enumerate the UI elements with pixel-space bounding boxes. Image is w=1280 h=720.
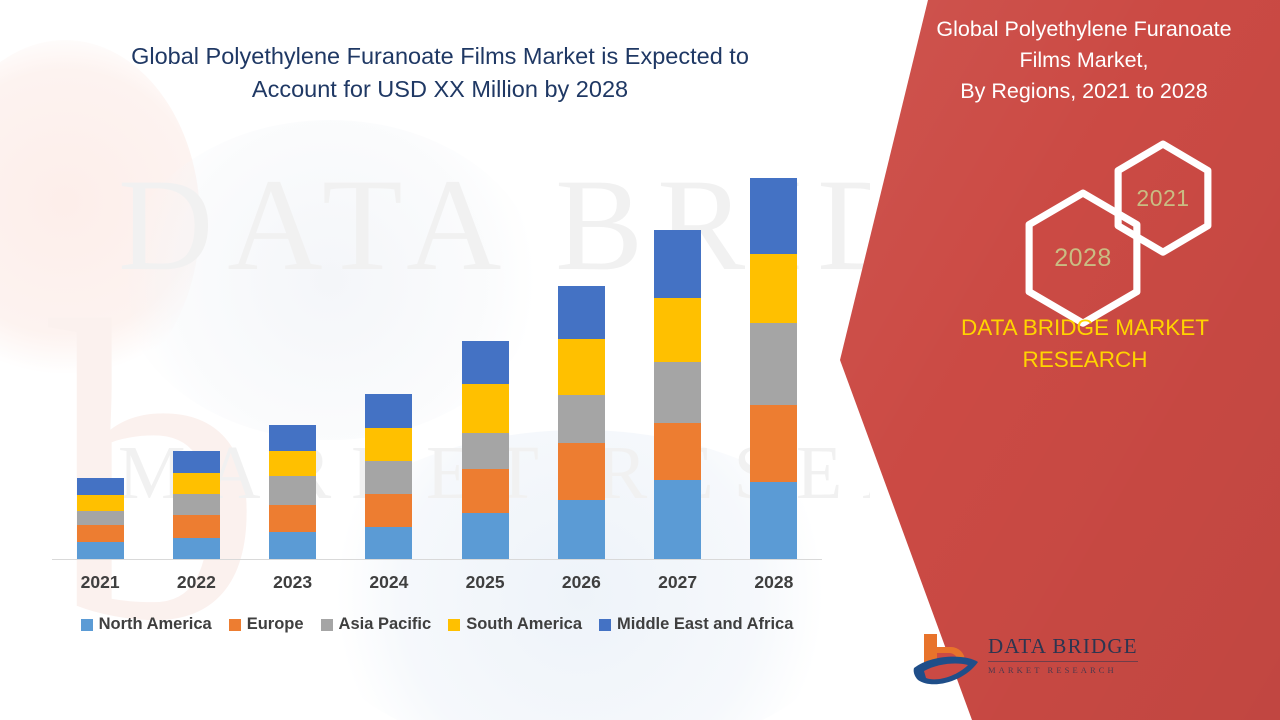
- bar-segment: [558, 443, 605, 499]
- x-tick-2022: 2022: [156, 572, 236, 593]
- brand-name-line-2: RESEARCH: [920, 344, 1250, 376]
- page-title-line-1: Global Polyethylene Furanoate Films Mark…: [60, 40, 820, 73]
- bar-segment: [750, 405, 797, 483]
- logo-sub-text: MARKET RESEARCH: [988, 665, 1138, 675]
- bar-segment: [654, 362, 701, 423]
- x-tick-2024: 2024: [349, 572, 429, 593]
- hexagon-year-badges: 2021 2028: [960, 140, 1220, 305]
- brand-name-line-1: DATA BRIDGE MARKET: [920, 312, 1250, 344]
- legend-label: Middle East and Africa: [617, 615, 793, 634]
- bar-segment: [77, 542, 124, 559]
- bar-segment: [654, 230, 701, 299]
- infographic-slide: b DATA BRIDGE MARKET RESEARCH Global Pol…: [0, 0, 1280, 720]
- chart-legend: North AmericaEuropeAsia PacificSouth Ame…: [52, 615, 822, 634]
- bar-segment: [365, 494, 412, 528]
- bar-segment: [173, 538, 220, 559]
- bar-column-2027: [654, 230, 701, 559]
- panel-heading-line-2: Films Market,: [910, 45, 1258, 76]
- x-tick-2026: 2026: [541, 572, 621, 593]
- bar-segment: [365, 428, 412, 461]
- bar-segment: [77, 511, 124, 525]
- bar-segment: [462, 384, 509, 433]
- legend-label: Asia Pacific: [339, 615, 432, 634]
- legend-item[interactable]: North America: [81, 615, 212, 634]
- legend-label: North America: [99, 615, 212, 634]
- logo-main-text: DATA BRIDGE: [988, 634, 1138, 659]
- bar-segment: [269, 505, 316, 533]
- legend-swatch-icon: [599, 619, 611, 631]
- page-title: Global Polyethylene Furanoate Films Mark…: [60, 40, 820, 107]
- panel-heading: Global Polyethylene Furanoate Films Mark…: [840, 14, 1280, 108]
- bar-column-2024: [365, 394, 412, 559]
- bar-segment: [173, 515, 220, 537]
- bar-segment: [558, 339, 605, 395]
- brand-name: DATA BRIDGE MARKET RESEARCH: [840, 312, 1280, 376]
- bar-segment: [750, 178, 797, 255]
- bar-column-2026: [558, 286, 605, 559]
- logo-divider: [988, 661, 1138, 662]
- bar-segment: [558, 395, 605, 443]
- x-tick-2025: 2025: [445, 572, 525, 593]
- x-axis-tick-labels: 20212022202320242025202620272028: [52, 572, 822, 602]
- legend-item[interactable]: Europe: [229, 615, 304, 634]
- bar-column-2028: [750, 178, 797, 559]
- bar-segment: [462, 469, 509, 513]
- logo-wordmark: DATA BRIDGE MARKET RESEARCH: [988, 634, 1138, 675]
- bar-segment: [750, 323, 797, 405]
- bar-column-2021: [77, 478, 124, 559]
- legend-label: Europe: [247, 615, 304, 634]
- x-tick-2023: 2023: [253, 572, 333, 593]
- x-tick-2028: 2028: [734, 572, 814, 593]
- bar-segment: [654, 298, 701, 361]
- bar-segment: [269, 451, 316, 477]
- legend-item[interactable]: Asia Pacific: [321, 615, 432, 634]
- bar-segment: [365, 394, 412, 428]
- bar-segment: [173, 473, 220, 493]
- legend-swatch-icon: [229, 619, 241, 631]
- bar-segment: [750, 482, 797, 559]
- bar-segment: [654, 480, 701, 559]
- bar-segment: [77, 525, 124, 541]
- panel-heading-line-3: By Regions, 2021 to 2028: [910, 76, 1258, 107]
- page-title-line-2: Account for USD XX Million by 2028: [60, 73, 820, 106]
- bar-segment: [77, 495, 124, 511]
- legend-swatch-icon: [81, 619, 93, 631]
- bar-segment: [173, 494, 220, 515]
- x-axis-line: [52, 559, 822, 560]
- bar-segment: [558, 286, 605, 339]
- bar-segment: [462, 513, 509, 559]
- bar-segment: [558, 500, 605, 559]
- bar-segment: [462, 433, 509, 469]
- hexagon-badge-end-year: 2028: [1022, 188, 1144, 328]
- panel-heading-line-1: Global Polyethylene Furanoate: [910, 14, 1258, 45]
- bar-segment: [365, 527, 412, 559]
- stacked-bar-chart: [52, 150, 822, 560]
- logo-mark-icon: [910, 630, 982, 692]
- bar-segment: [269, 532, 316, 559]
- bar-segment: [462, 341, 509, 384]
- bar-column-2022: [173, 451, 220, 559]
- bar-segment: [173, 451, 220, 473]
- x-tick-2021: 2021: [60, 572, 140, 593]
- legend-item[interactable]: South America: [448, 615, 582, 634]
- bar-segment: [269, 425, 316, 451]
- legend-item[interactable]: Middle East and Africa: [599, 615, 793, 634]
- bar-segment: [77, 478, 124, 494]
- bar-column-2023: [269, 425, 316, 559]
- bar-segment: [365, 461, 412, 494]
- hexagon-start-year-label: 2021: [1136, 185, 1189, 212]
- x-tick-2027: 2027: [638, 572, 718, 593]
- legend-swatch-icon: [321, 619, 333, 631]
- hexagon-end-year-label: 2028: [1054, 244, 1112, 273]
- bar-segment: [654, 423, 701, 480]
- bar-segment: [269, 476, 316, 505]
- bar-column-2025: [462, 341, 509, 559]
- legend-label: South America: [466, 615, 582, 634]
- legend-swatch-icon: [448, 619, 460, 631]
- bar-segment: [750, 254, 797, 323]
- company-logo: DATA BRIDGE MARKET RESEARCH: [910, 626, 1130, 698]
